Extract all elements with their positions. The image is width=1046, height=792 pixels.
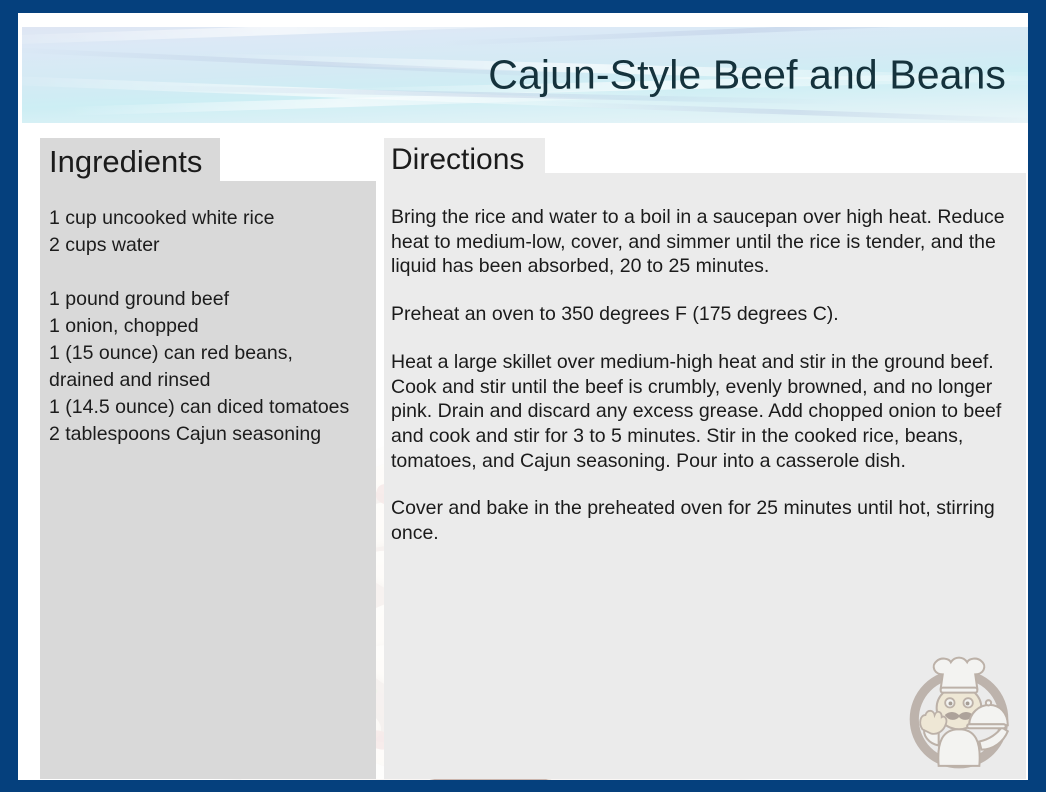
direction-step: Bring the rice and water to a boil in a …: [384, 205, 1028, 279]
ingredient-item: 1 (15 ounce) can red beans,: [40, 340, 385, 367]
title-banner: Cajun-Style Beef and Beans: [22, 27, 1028, 123]
page-title: Cajun-Style Beef and Beans: [488, 52, 1006, 99]
ingredient-item: 1 (14.5 ounce) can diced tomatoes: [40, 394, 385, 421]
ingredient-item: 1 cup uncooked white rice: [40, 205, 385, 232]
directions-heading: Directions: [384, 143, 524, 177]
recipe-card: Cajun-Style Beef and Beans: [0, 0, 1046, 792]
list-spacer: [40, 259, 385, 286]
direction-step: Heat a large skillet over medium-high he…: [384, 350, 1028, 474]
ingredient-item: drained and rinsed: [40, 367, 385, 394]
direction-step: Preheat an oven to 350 degrees F (175 de…: [384, 302, 1028, 327]
ingredient-item: 1 pound ground beef: [40, 286, 385, 313]
ingredients-list: 1 cup uncooked white rice 2 cups water 1…: [40, 205, 385, 448]
ingredients-heading-box: Ingredients: [40, 138, 220, 186]
chef-mascot-logo: [898, 652, 1020, 774]
direction-step: Cover and bake in the preheated oven for…: [384, 496, 1028, 545]
ingredient-item: 1 onion, chopped: [40, 313, 385, 340]
card-inner: Cajun-Style Beef and Beans: [18, 13, 1028, 780]
ingredients-heading: Ingredients: [40, 144, 202, 180]
ingredient-item: 2 tablespoons Cajun seasoning: [40, 421, 385, 448]
ingredient-item: 2 cups water: [40, 232, 385, 259]
directions-heading-box: Directions: [384, 138, 545, 182]
directions-list: Bring the rice and water to a boil in a …: [384, 205, 1028, 569]
chef-hat: [934, 658, 985, 693]
